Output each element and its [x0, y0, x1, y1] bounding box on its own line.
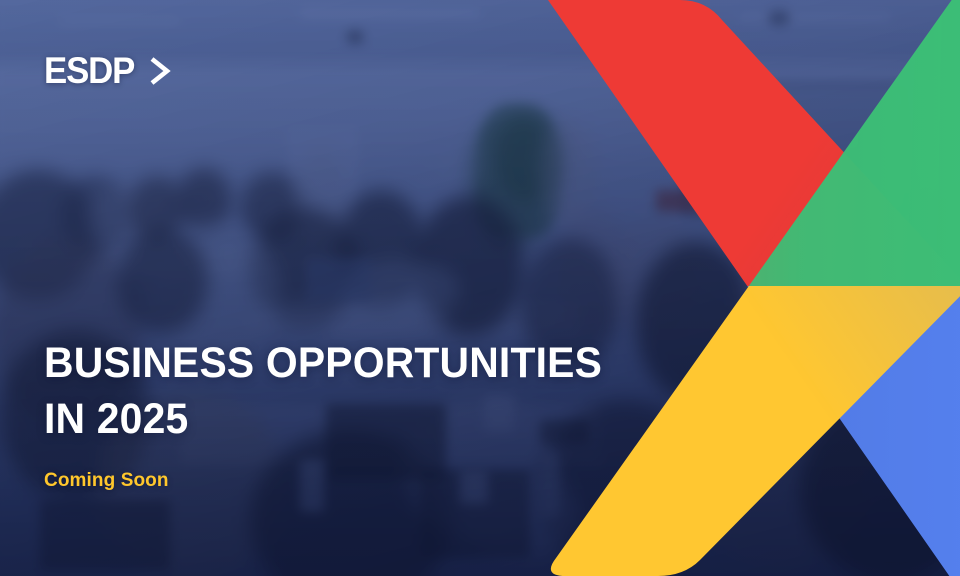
- status-badge: Coming Soon: [44, 470, 631, 492]
- headline-line-1: BUSINESS OPPORTUNITIES: [44, 339, 602, 387]
- hero-copy-block: BUSINESS OPPORTUNITIES IN 2025 Coming So…: [44, 336, 631, 492]
- marketing-hero-banner: ESDP BUSINESS OPPORTUNITIES IN 2025 Comi…: [0, 0, 960, 576]
- esdp-logo[interactable]: ESDP: [44, 52, 171, 89]
- headline-line-2: IN 2025: [44, 392, 602, 448]
- page-title: BUSINESS OPPORTUNITIES IN 2025: [44, 336, 602, 448]
- logo-wordmark: ESDP: [44, 52, 134, 89]
- chevron-right-icon: [149, 57, 171, 85]
